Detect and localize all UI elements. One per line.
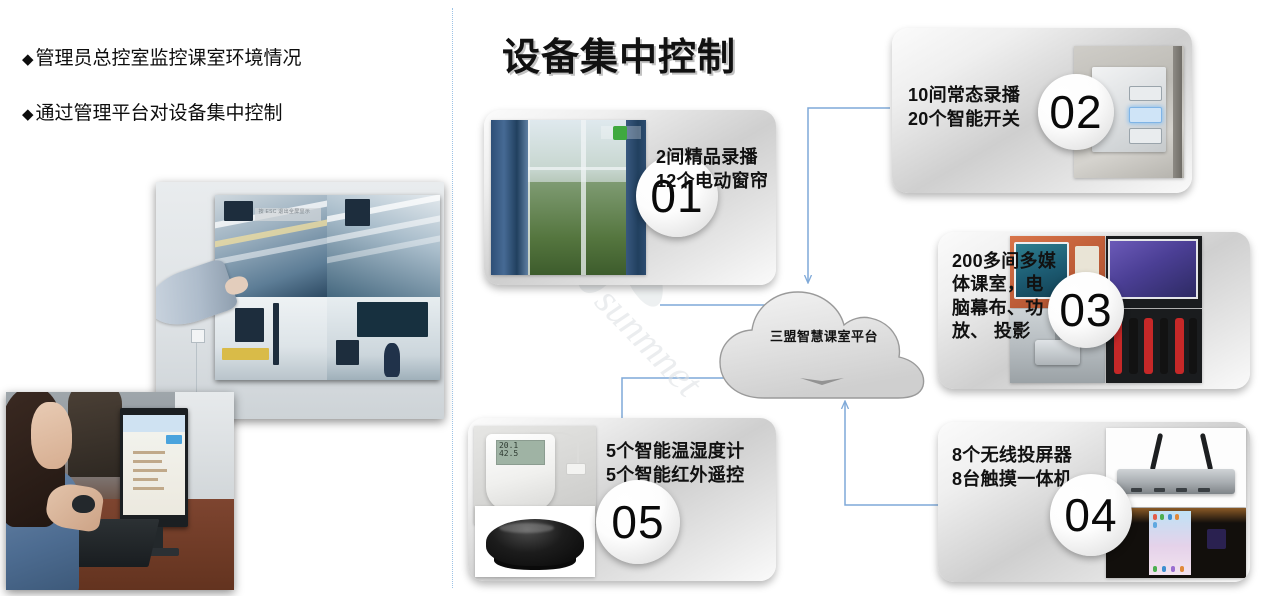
number-badge-03: 03 [1048, 272, 1124, 348]
card-02[interactable]: 10间常态录播 20个智能开关 02 [892, 28, 1192, 193]
thermometer-display: 20.1 42.5 [496, 440, 545, 465]
image-motorized-curtain [491, 120, 646, 275]
hub-label: 三盟智慧课室平台 [712, 326, 936, 345]
hub-cloud: 三盟智慧课室平台 [712, 282, 936, 410]
humidity-value: 42.5 [499, 449, 518, 458]
number-badge-02: 02 [1038, 74, 1114, 150]
card-01-text: 2间精品录播 12个电动窗帘 [656, 146, 776, 194]
badge-number: 03 [1059, 283, 1112, 337]
card-05[interactable]: 20.1 42.5 5个智能温湿度计 5个智能红外遥控 05 [468, 418, 776, 581]
number-badge-05: 05 [596, 480, 680, 564]
card-04[interactable]: 8个无线投屏器 8台触摸一体机 04 [938, 422, 1250, 582]
badge-number: 04 [1064, 488, 1117, 542]
card-01[interactable]: 01 2间精品录播 12个电动窗帘 [484, 110, 776, 285]
cloud-shape [712, 282, 936, 410]
image-infrared-remote [475, 506, 595, 577]
card-03[interactable]: 200多间多媒 体课室，电 脑幕布、功 放、 投影 03 [938, 232, 1250, 389]
card-02-text: 10间常态录播 20个智能开关 [908, 84, 1058, 132]
number-badge-04: 04 [1050, 474, 1132, 556]
badge-number: 02 [1049, 85, 1102, 139]
slide-canvas: ◆管理员总控室监控课室环境情况 ◆通过管理平台对设备集中控制 [0, 0, 1269, 596]
connector-02-to-hub [808, 108, 890, 282]
badge-number: 05 [611, 495, 664, 549]
